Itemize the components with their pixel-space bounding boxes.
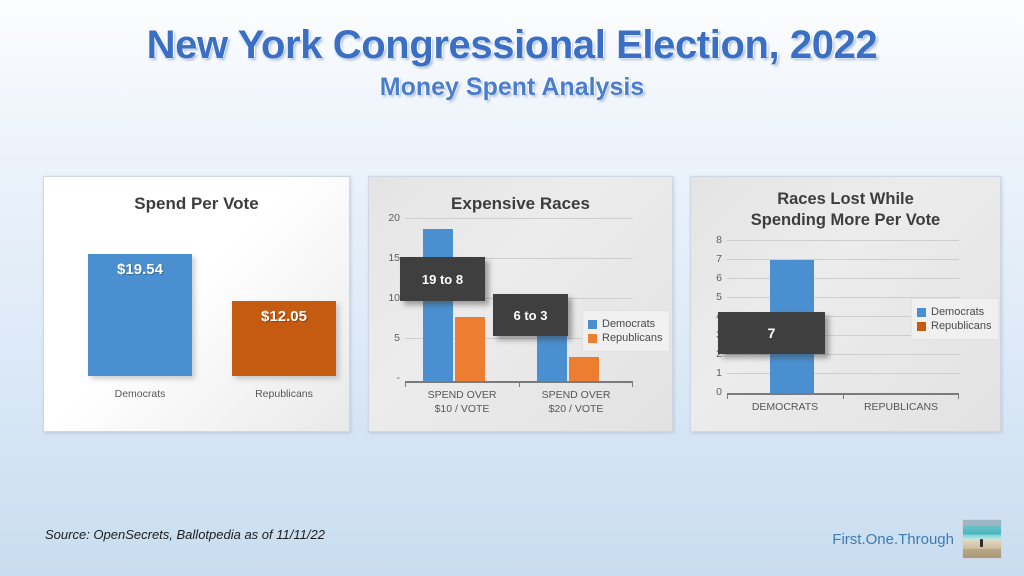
xaxis-label-over-10-line1: SPEND OVER [405,388,519,402]
xaxis-label-republicans: Republicans [229,388,339,400]
bar-republicans: $12.05 [232,301,336,376]
brand-logo-icon [962,519,1002,559]
xaxis-label-democrats: Democrats [85,388,195,400]
ytick-10: 10 [388,292,400,304]
chart-title-races-lost-line2: Spending More Per Vote [691,210,1000,231]
legend-label-democrats: Democrats [602,318,655,330]
bar-republicans-over-10 [455,317,485,381]
legend-expensive-races: Democrats Republicans [582,310,670,352]
ytick-5: 5 [394,332,400,344]
legend-swatch-republicans-icon [917,322,926,331]
legend-swatch-republicans-icon [588,334,597,343]
legend-label-republicans: Republicans [931,320,992,332]
ytick-0: - [397,372,401,384]
logo-figure-icon [980,539,983,547]
legend-races-lost: Democrats Republicans [911,298,999,340]
legend-label-republicans: Republicans [602,332,663,344]
ytick-1: 1 [716,367,722,379]
ytick-8: 8 [716,234,722,246]
bar-value-republicans: $12.05 [232,308,336,325]
gridline-7 [727,259,959,260]
bar-value-democrats: $19.54 [88,261,192,278]
legend-item-republicans[interactable]: Republicans [588,332,663,344]
xaxis-tick-start [727,394,728,399]
chart-title-expensive-races: Expensive Races [369,177,672,214]
xaxis-tick-end [958,394,959,399]
slide-canvas: New York Congressional Election, 2022 Mo… [0,0,1024,576]
bar-republicans-over-20 [569,357,599,381]
legend-label-democrats: Democrats [931,306,984,318]
legend-item-democrats[interactable]: Democrats [588,318,663,330]
xaxis-label-over-10: SPEND OVER $10 / VOTE [405,388,519,416]
bar-democrats-over-10 [423,229,453,381]
ytick-7: 7 [716,253,722,265]
brand-name: First.One.Through [832,531,954,548]
legend-item-democrats[interactable]: Democrats [917,306,992,318]
callout-7: 7 [718,312,825,354]
ytick-0: 0 [716,386,722,398]
page-subtitle: Money Spent Analysis [0,73,1024,102]
xaxis-tick-start [405,382,406,387]
chart-title-races-lost-line1: Races Lost While [691,189,1000,210]
gridline-8 [727,240,959,241]
ytick-6: 6 [716,272,722,284]
bar-group-republicans: $12.05 [232,228,336,376]
gridline-2 [727,354,959,355]
callout-19-to-8: 19 to 8 [400,257,485,301]
chart-title-races-lost: Races Lost While Spending More Per Vote [691,177,1000,230]
brand-block[interactable]: First.One.Through [832,519,1002,559]
bar-group-democrats: $19.54 [88,228,192,376]
xaxis-tick-mid [843,394,844,399]
bar-democrats-over-20 [537,333,567,381]
ytick-5: 5 [716,291,722,303]
chart-plot-spend-per-vote: $19.54 $12.05 Democrats Republicans [62,222,331,402]
xaxis-label-over-20: SPEND OVER $20 / VOTE [519,388,633,416]
ytick-15: 15 [388,252,400,264]
xaxis-tick-end [632,382,633,387]
legend-swatch-democrats-icon [917,308,926,317]
xaxis-label-democrats: DEMOCRATS [727,400,843,414]
gridline-1 [727,373,959,374]
source-note: Source: OpenSecrets, Ballotpedia as of 1… [45,527,325,542]
page-title: New York Congressional Election, 2022 [0,22,1024,68]
xaxis-label-over-20-line2: $20 / VOTE [519,402,633,416]
title-block: New York Congressional Election, 2022 Mo… [0,22,1024,102]
xaxis-label-over-20-line1: SPEND OVER [519,388,633,402]
chart-panel-expensive-races: Expensive Races 20 15 10 5 - [368,176,673,432]
legend-swatch-democrats-icon [588,320,597,329]
gridline-20 [405,218,633,219]
chart-panel-spend-per-vote: Spend Per Vote $19.54 $12.05 Democrats R… [43,176,350,432]
xaxis-label-republicans: REPUBLICANS [843,400,959,414]
bar-democrats: $19.54 [88,254,192,376]
callout-6-to-3: 6 to 3 [493,294,568,336]
chart-panel-races-lost: Races Lost While Spending More Per Vote … [690,176,1001,432]
xaxis-label-over-10-line2: $10 / VOTE [405,402,519,416]
gridline-6 [727,278,959,279]
chart-title-spend-per-vote: Spend Per Vote [44,177,349,214]
ytick-20: 20 [388,212,400,224]
legend-item-republicans[interactable]: Republicans [917,320,992,332]
xaxis-tick-mid [519,382,520,387]
